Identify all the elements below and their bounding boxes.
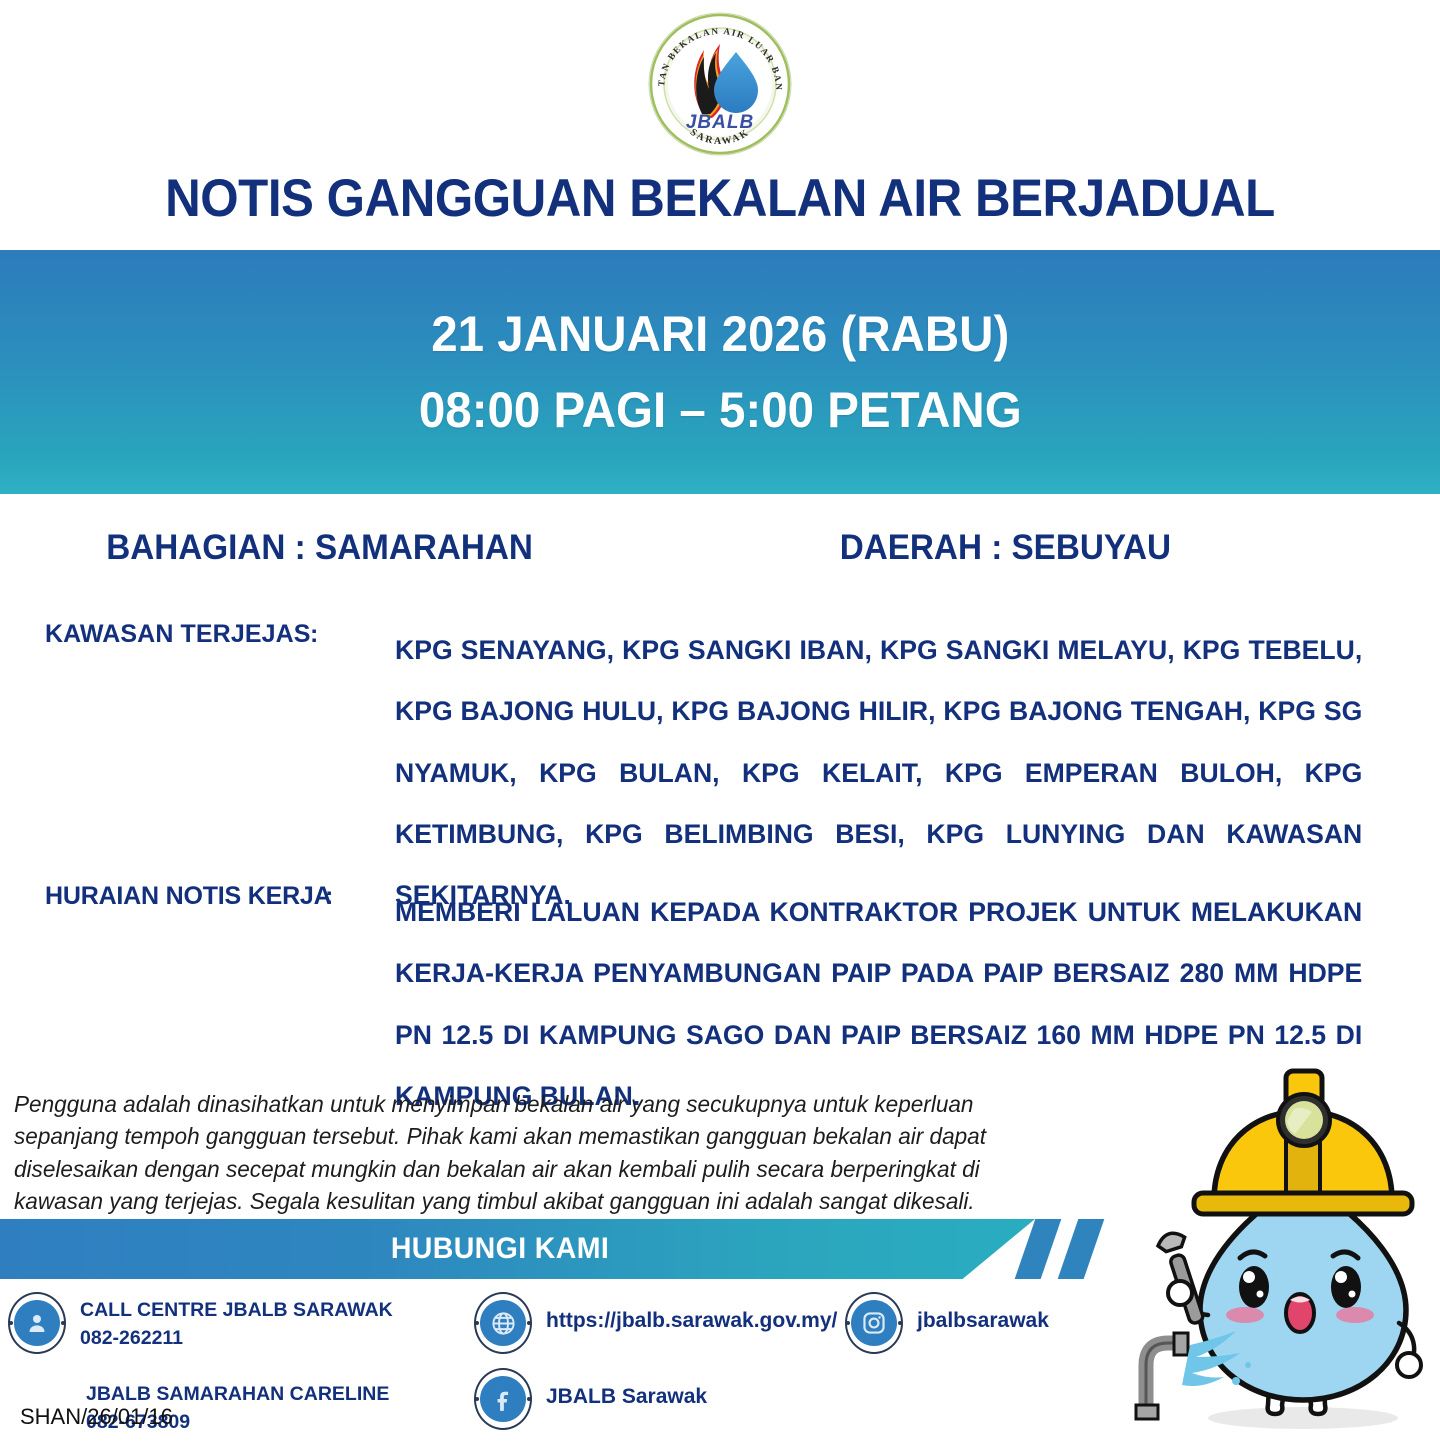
svg-text:JBALB: JBALB (686, 112, 754, 133)
instagram-handle[interactable]: jbalbsarawak (903, 1292, 1049, 1336)
facebook-handle[interactable]: JBALB Sarawak (532, 1368, 707, 1412)
instagram-icon (845, 1292, 903, 1354)
globe-icon-circle (480, 1300, 526, 1346)
website-url[interactable]: https://jbalb.sarawak.gov.my/ (532, 1292, 837, 1336)
district-label: DAERAH : SEBUYAU (839, 528, 1170, 568)
water-drop-mascot-icon (1118, 1065, 1440, 1440)
globe-glyph (490, 1310, 517, 1337)
ring-dot-right (898, 1321, 902, 1325)
division-block: BAHAGIAN : SAMARAHAN (0, 528, 640, 568)
person-glyph (25, 1311, 49, 1335)
person-icon (8, 1292, 66, 1354)
division-label: BAHAGIAN : SAMARAHAN (107, 528, 534, 568)
date-time-banner: 21 JANUARI 2026 (RABU) 08:00 PAGI – 5:00… (0, 250, 1440, 494)
call-centre-phone: 082-262211 (80, 1324, 393, 1352)
facebook-glyph (490, 1386, 516, 1412)
ring-dot-left (846, 1321, 850, 1325)
facebook-item[interactable]: JBALB Sarawak (474, 1368, 707, 1430)
jbalb-logo: JABATAN BEKALAN AIR LUAR BANDAR SARAWAK … (646, 10, 794, 158)
bar-stripe-2 (1058, 1219, 1105, 1279)
ring-dot-right (527, 1397, 531, 1401)
outage-date: 21 JANUARI 2026 (RABU) (431, 303, 1009, 366)
call-centre-text: CALL CENTRE JBALB SARAWAK 082-262211 (66, 1292, 393, 1353)
instagram-glyph (861, 1310, 887, 1336)
facebook-icon-circle (480, 1376, 526, 1422)
ring-dot-right (61, 1321, 65, 1325)
affected-areas-value: KPG SENAYANG, KPG SANGKI IBAN, KPG SANGK… (395, 620, 1380, 926)
ring-dot-left (475, 1321, 479, 1325)
reference-code: SHAN/26/01/16 (20, 1404, 173, 1430)
affected-areas-label: KAWASAN TERJEJAS (0, 620, 310, 926)
affected-areas-colon: : (310, 620, 395, 926)
contact-bar-label: HUBUNGI KAMI (25, 1219, 975, 1279)
district-block: DAERAH : SEBUYAU (640, 528, 1370, 568)
affected-areas-row: KAWASAN TERJEJAS : KPG SENAYANG, KPG SAN… (0, 620, 1440, 926)
mascot-illustration (1118, 1065, 1440, 1440)
page-title: NOTIS GANGGUAN BEKALAN AIR BERJADUAL (50, 168, 1389, 229)
region-row: BAHAGIAN : SAMARAHAN DAERAH : SEBUYAU (0, 528, 1440, 568)
outage-time: 08:00 PAGI – 5:00 PETANG (419, 379, 1022, 442)
ring-dot-right (527, 1321, 531, 1325)
call-centre-name: CALL CENTRE JBALB SARAWAK (80, 1296, 393, 1324)
jbalb-logo-icon: JABATAN BEKALAN AIR LUAR BANDAR SARAWAK … (646, 10, 794, 158)
ring-dot-left (9, 1321, 13, 1325)
instagram-icon-circle (851, 1300, 897, 1346)
ring-dot-left (475, 1397, 479, 1401)
globe-icon (474, 1292, 532, 1354)
instagram-item[interactable]: jbalbsarawak (845, 1292, 1049, 1354)
person-icon-circle (14, 1300, 60, 1346)
facebook-icon (474, 1368, 532, 1430)
website-item[interactable]: https://jbalb.sarawak.gov.my/ (474, 1292, 837, 1354)
call-centre-item[interactable]: CALL CENTRE JBALB SARAWAK 082-262211 (8, 1292, 393, 1354)
advisory-paragraph: Pengguna adalah dinasihatkan untuk menyi… (14, 1088, 1012, 1218)
